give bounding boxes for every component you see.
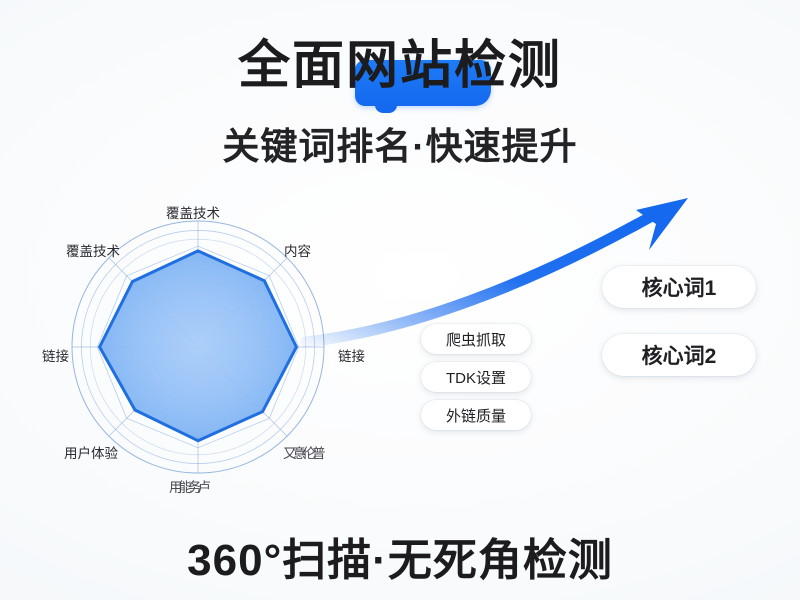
radar-axis-label-bottom-left: 用户体验	[64, 442, 118, 462]
callout-pill-backlink[interactable]: 外链质量	[421, 400, 531, 430]
radar-axis-label-top-left: 覆盖技术	[66, 240, 120, 260]
page-subtitle: 关键词排名·快速提升	[0, 116, 800, 170]
poster-canvas: 全面网站检测 关键词排名·快速提升 覆盖技术 内容 链接 又意·伦普 用能务卢 …	[0, 0, 800, 600]
title-wrap: 全面网站检测	[0, 34, 800, 98]
radar-axis-label-left: 链接	[42, 345, 69, 365]
page-title: 全面网站检测	[0, 34, 800, 98]
core-keyword-pill-1[interactable]: 核心词1	[602, 266, 756, 308]
radar-axis-label-top: 覆盖技术	[166, 202, 220, 222]
core-keyword-pill-2[interactable]: 核心词2	[602, 334, 756, 376]
callout-pill-tdk[interactable]: TDK设置	[421, 362, 531, 392]
callout-pill-crawler[interactable]: 爬虫抓取	[421, 324, 531, 354]
radar-axis-label-bottom-right: 又意·伦普	[283, 442, 322, 462]
radar-axis-label-bottom: 用能务卢	[169, 476, 207, 496]
radar-series	[100, 251, 297, 441]
page-footer-headline: 360°扫描·无死角检测	[0, 524, 800, 588]
